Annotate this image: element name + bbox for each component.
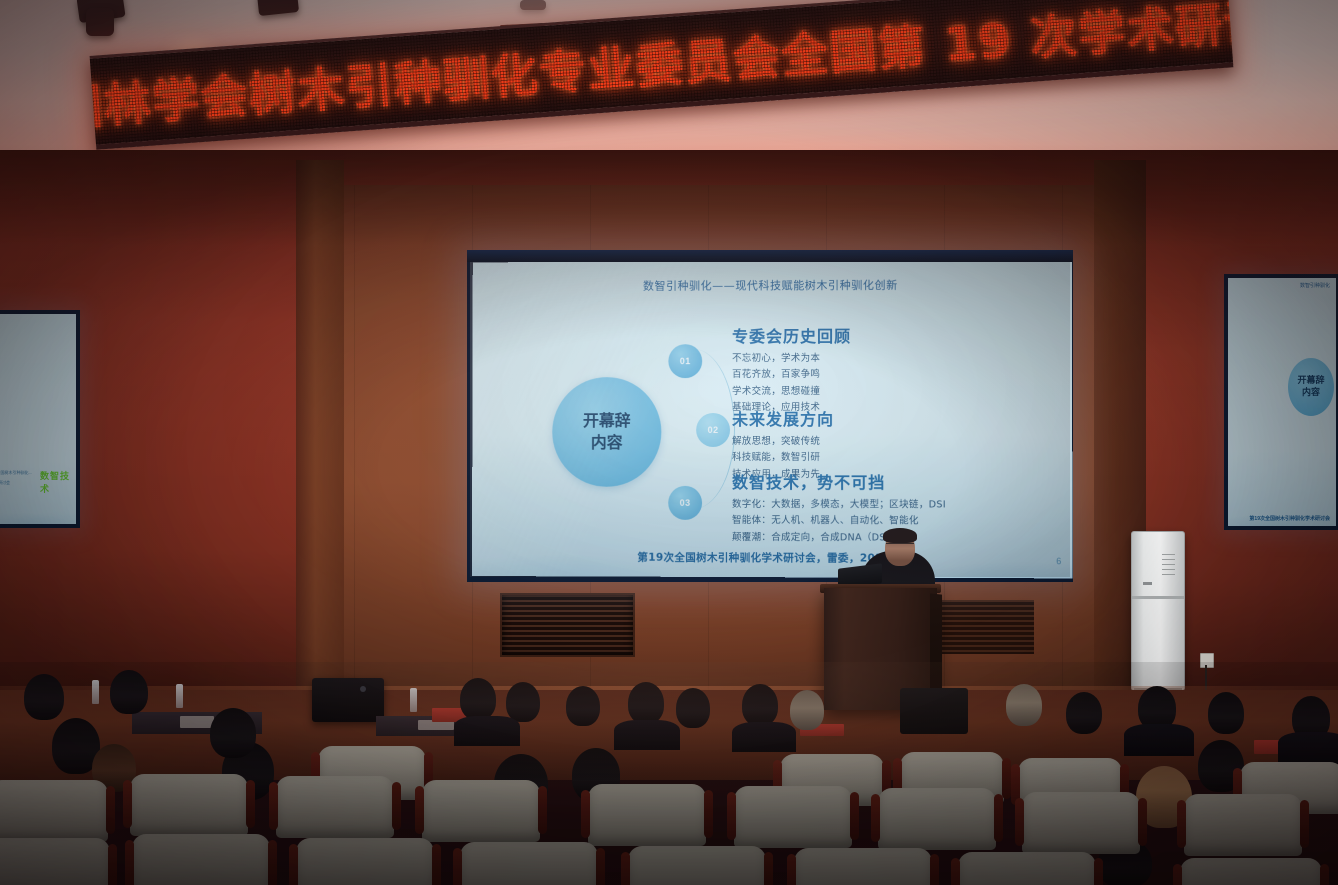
conference-hall-photo: 中国林学会树木引种驯化专业委员会全国第 19 次学术研讨会 数智引种驯化——现代…	[0, 0, 1338, 885]
side-left-green-text: 数智技术	[40, 469, 76, 495]
attendee-head	[742, 684, 778, 726]
slide-section-1: 专委会历史回顾 不忘初心，学术为本 百花齐放，百家争鸣 学术交流，思想碰撞 基础…	[732, 323, 851, 416]
auditorium-seat	[1180, 858, 1322, 885]
attendee-head	[628, 682, 664, 724]
attendee-shoulders	[1124, 724, 1194, 756]
side-display-right: 数智引种驯化 开幕辞 内容 第19次全国树木引种驯化学术研讨会	[1224, 274, 1338, 530]
auditorium-seat	[734, 786, 852, 848]
side-display-right-surface: 数智引种驯化 开幕辞 内容 第19次全国树木引种驯化学术研讨会	[1228, 278, 1336, 526]
auditorium-seat	[628, 846, 766, 885]
attendee-head	[676, 688, 710, 728]
side-left-hills	[0, 490, 76, 524]
section-2-heading: 未来发展方向	[732, 406, 834, 430]
slide-page-number: 6	[1056, 556, 1061, 566]
side-right-title: 数智引种驯化	[1300, 282, 1330, 289]
wall-top-shadow	[0, 150, 1338, 246]
section-3-line-2: 智能体：无人机、机器人、自动化、智能化	[732, 513, 946, 530]
section-3-heading: 数智技术，势不可挡	[732, 469, 946, 493]
attendee-shoulders	[454, 716, 520, 746]
ac-panel-split	[1132, 596, 1184, 599]
attendee-shoulders	[614, 720, 680, 750]
auditorium-seat	[0, 780, 108, 842]
auditorium-seat	[1022, 792, 1140, 854]
slide-footer: 第19次全国树木引种驯化学术研讨会，雷委，2026-3	[472, 549, 1072, 566]
attendee-head	[24, 674, 64, 720]
section-1-line-1: 不忘初心，学术为本	[732, 351, 851, 368]
slide-title: 数智引种驯化——现代科技赋能树木引种驯化创新	[473, 276, 1072, 294]
slide-center-bubble: 开幕辞 内容	[552, 377, 661, 487]
attendee-head	[566, 686, 600, 726]
auditorium-seat	[794, 848, 932, 885]
side-right-bubble: 开幕辞 内容	[1288, 358, 1334, 416]
auditorium-seat	[1184, 794, 1302, 856]
side-left-tiny-text-1: 第19次全国树木引种驯化…	[0, 470, 32, 476]
attendee-shoulders	[732, 722, 796, 752]
water-bottle-2	[176, 684, 183, 708]
section-1-line-3: 学术交流，思想碰撞	[732, 384, 851, 400]
wall-louvre-vent-right	[938, 600, 1034, 654]
slide-marker-03: 03	[668, 486, 702, 520]
side-display-left: 第19次全国树木引种驯化… 学术研讨会 数智技术	[0, 310, 80, 528]
auditorium-seat	[276, 776, 394, 838]
screen-top-bezel	[467, 250, 1073, 262]
section-2-line-2: 科技赋能，数智引研	[732, 450, 834, 466]
main-projection-screen: 数智引种驯化——现代科技赋能树木引种驯化创新 开幕辞 内容 01 02 03 专…	[467, 250, 1073, 582]
attendee-head-gray	[790, 690, 824, 730]
section-2-line-1: 解放思想，突破传统	[732, 434, 834, 450]
wall-louvre-vent-left	[500, 593, 635, 657]
paper-sheet-1	[180, 716, 214, 728]
side-display-left-surface: 第19次全国树木引种驯化… 学术研讨会 数智技术	[0, 314, 76, 524]
attendee-head	[1208, 692, 1244, 734]
center-bubble-line1: 开幕辞	[583, 410, 631, 432]
side-right-bubble-line1: 开幕辞	[1297, 375, 1324, 387]
side-right-bubble-line2: 内容	[1302, 387, 1320, 399]
slide-marker-01: 01	[668, 344, 702, 378]
auditorium-seat	[460, 842, 598, 885]
auditorium-seat	[958, 852, 1096, 885]
auditorium-seat	[132, 834, 270, 885]
water-bottle-3	[410, 688, 417, 712]
attendee-head	[210, 708, 256, 758]
attendee-shoulders	[1278, 732, 1338, 764]
auditorium-seat	[588, 784, 706, 846]
presenter-glasses	[886, 543, 914, 549]
auditorium-seat	[878, 788, 996, 850]
ac-grille	[1162, 554, 1175, 578]
side-left-tiny-text-2: 学术研讨会	[0, 480, 10, 486]
attendee-head	[506, 682, 540, 722]
center-bubble-line2: 内容	[591, 432, 623, 454]
slide-marker-02: 02	[696, 413, 730, 447]
section-1-heading: 专委会历史回顾	[732, 323, 851, 347]
auditorium-seat	[0, 838, 110, 885]
section-1-line-2: 百花齐放，百家争鸣	[732, 367, 851, 383]
section-3-line-1: 数字化：大数据，多模态，大模型；区块链，DSI	[732, 497, 946, 514]
attendee-head-gray	[1006, 684, 1042, 726]
attendee-head	[110, 670, 148, 714]
water-bottle-1	[92, 680, 99, 704]
side-right-footer: 第19次全国树木引种驯化学术研讨会	[1249, 515, 1330, 522]
auditorium-seat	[296, 838, 434, 885]
projection-screen-surface: 数智引种驯化——现代科技赋能树木引种驯化创新 开幕辞 内容 01 02 03 专…	[472, 260, 1073, 578]
attendee-head	[460, 678, 496, 720]
audience-area	[0, 662, 1338, 885]
auditorium-seat	[130, 774, 248, 836]
auditorium-seat	[422, 780, 540, 842]
attendee-head	[1066, 692, 1102, 734]
ac-display-led	[1143, 582, 1152, 585]
presenter-hair	[883, 528, 917, 543]
